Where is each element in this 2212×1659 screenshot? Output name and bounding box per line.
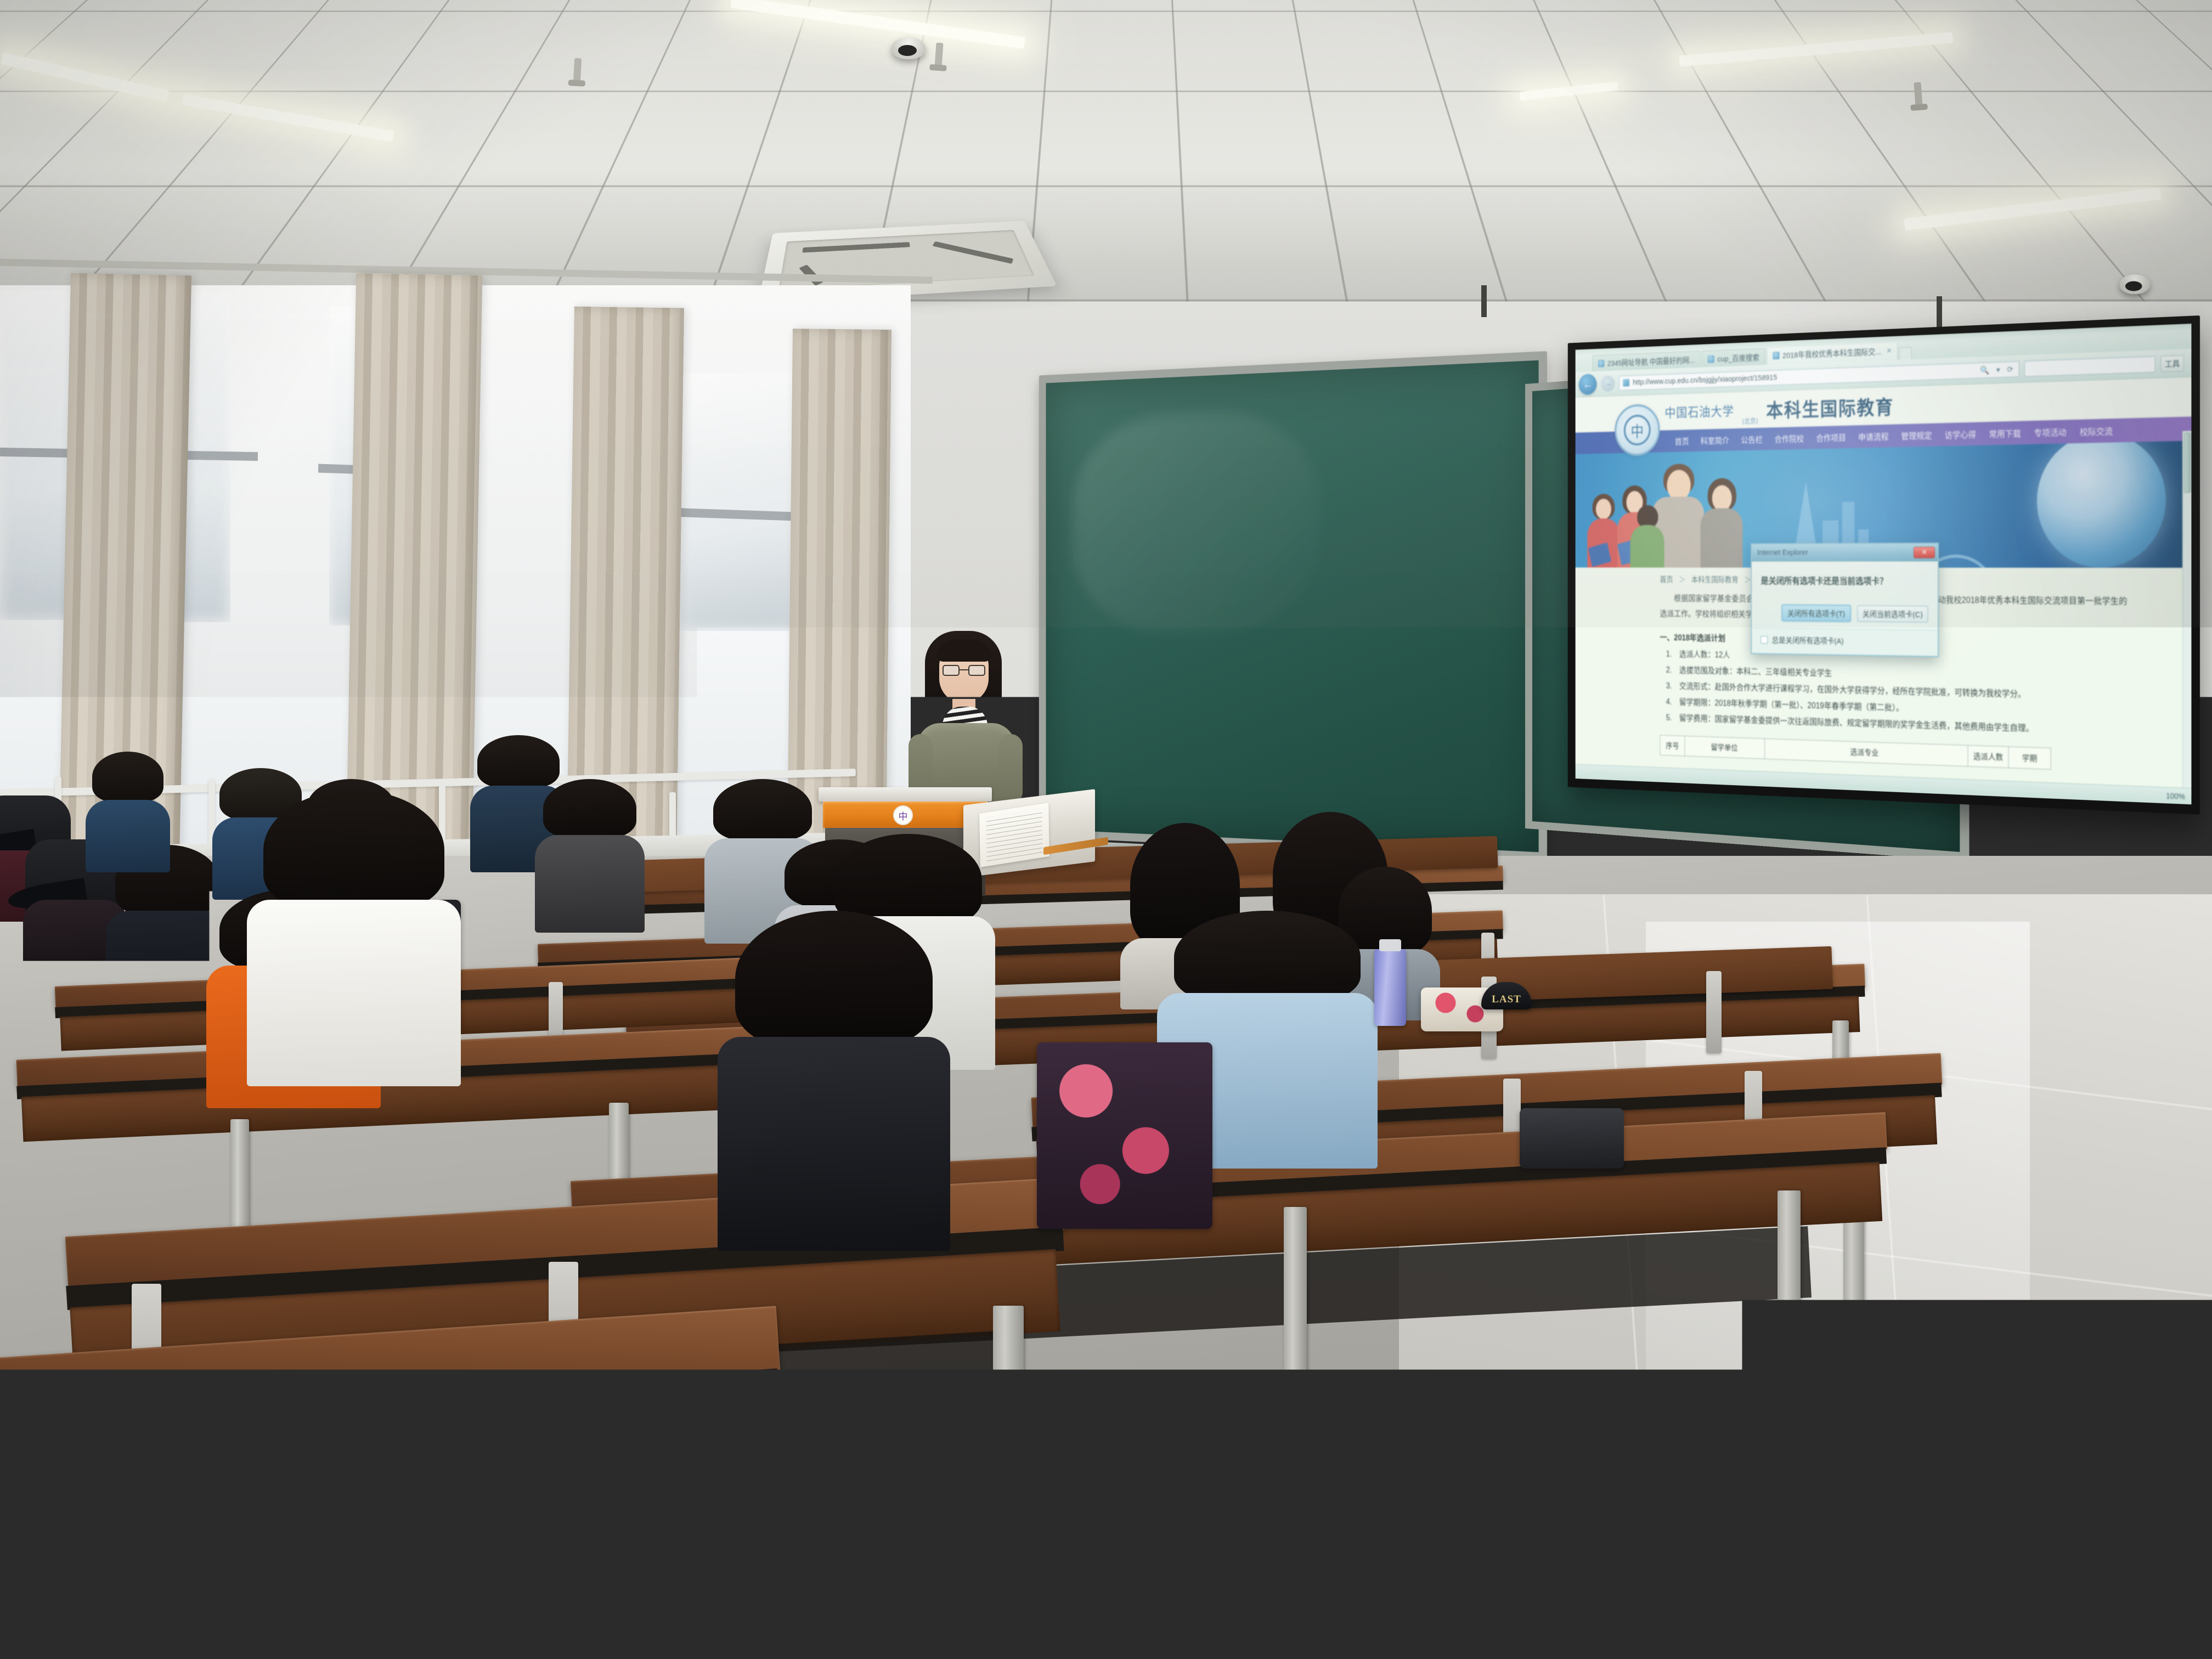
projection-surface: 2345网址导航 中国最好的网... cup_百度搜索 2018年我校优秀本科生… [1576, 324, 2192, 805]
water-bottle[interactable] [1374, 949, 1406, 1026]
table-header-row: 序号 留学单位 选派专业 选派人数 学期 [1660, 735, 2051, 769]
globe-icon [2037, 441, 2166, 568]
logo-glyph: 中 [1624, 414, 1651, 445]
breadcrumb-item-home[interactable]: 首页 [1660, 575, 1673, 584]
list-item-text: 留学期限：2018年秋季学期（第一批）、2019年春季学期（第二批）。 [1679, 698, 1904, 713]
site-nav-item-notices[interactable]: 公告栏 [1741, 433, 1763, 445]
student-hair [735, 911, 933, 1048]
site-name-suffix: (北京) [1742, 415, 1758, 428]
forward-glyph: → [1604, 378, 1612, 388]
site-nav-item-downloads[interactable]: 常用下载 [1989, 426, 2021, 440]
url-text: http://www.cup.edu.cn/bsjgjjy/xiaoprojec… [1633, 366, 1974, 387]
student-torso [86, 800, 170, 872]
list-item-number: 1. [1666, 647, 1672, 663]
printed-script-paper [979, 803, 1049, 867]
close-icon[interactable]: ✕ [1887, 347, 1892, 356]
selection-plan-table: 序号 留学单位 选派专业 选派人数 学期 [1660, 735, 2051, 770]
dialog-titlebar: Internet Explorer ✕ [1752, 544, 1938, 562]
seat-frame-post [702, 1404, 738, 1635]
hero-person [1587, 494, 1620, 568]
camera-lens-icon [2125, 281, 2142, 291]
close-icon[interactable]: ✕ [1914, 546, 1935, 558]
table-header-cell: 留学单位 [1685, 736, 1765, 759]
glasses-lens [943, 665, 960, 676]
cap-logo-text: LAST [1492, 994, 1521, 1009]
list-item-text: 选拔范围及对象：本科二、三年级相关专业学生 [1679, 667, 1832, 678]
student-torso [535, 835, 645, 933]
classroom-scene: 2345网址导航 中国最好的网... cup_百度搜索 2018年我校优秀本科生… [0, 0, 2212, 1659]
backpack-on-desk[interactable] [1520, 1108, 1624, 1169]
page-favicon-icon [1623, 379, 1629, 387]
security-camera-icon [891, 37, 926, 59]
presenter-bangs [937, 640, 991, 662]
list-item-number: 3. [1666, 679, 1672, 695]
site-nav-item-exchange[interactable]: 校际交流 [2080, 424, 2113, 438]
breadcrumb-item-section[interactable]: 本科生国际教育 [1691, 575, 1739, 584]
person-body [1701, 508, 1743, 568]
site-nav-item-projects[interactable]: 合作项目 [1816, 431, 1846, 444]
back-arrow-icon[interactable]: ← [1579, 374, 1597, 395]
tab-favicon-icon [1598, 359, 1605, 367]
dialog-footer: 总是关闭所有选项卡(A) [1752, 628, 1938, 656]
hero-person [1630, 505, 1664, 567]
thermos-bottle[interactable] [664, 902, 703, 996]
student-seated [543, 779, 636, 933]
forward-arrow-icon[interactable]: → [1601, 375, 1615, 392]
table-header-cell: 选派专业 [1764, 739, 1968, 767]
ceiling-shadow [0, 167, 2212, 302]
blackboard-surface [1039, 351, 1547, 861]
web-page-viewport: 中 中国石油大学 (北京) 本科生国际教育 首页 科室简介 公告栏 合作院校 合… [1576, 377, 2192, 805]
university-emblem: 中 [893, 805, 913, 825]
table-header-cell: 选派人数 [1968, 746, 2008, 768]
desk-leg [1575, 1503, 1607, 1659]
tab-label: cup_百度搜索 [1718, 352, 1759, 364]
window-pane [680, 373, 795, 631]
close-all-tabs-button[interactable]: 关闭所有选项卡(T) [1782, 605, 1850, 622]
student-hair [1174, 911, 1361, 1004]
blackboard-main [1039, 351, 1547, 861]
security-camera-icon [2119, 274, 2150, 294]
student-seated [92, 752, 163, 872]
chevron-right-icon: ＞ [1675, 575, 1690, 584]
projection-screen: 2345网址导航 中国最好的网... cup_百度搜索 2018年我校优秀本科生… [1568, 315, 2200, 815]
window-curtain[interactable] [346, 273, 482, 857]
blackboard-glare [1073, 408, 1320, 635]
site-nav-item-rules[interactable]: 管理规定 [1901, 428, 1932, 442]
paper-text-lines [986, 809, 1042, 861]
ie-close-tabs-dialog: Internet Explorer ✕ 是关闭所有选项卡还是当前选项卡？ 关闭所… [1751, 543, 1939, 657]
always-close-all-label: 总是关闭所有选项卡(A) [1772, 635, 1844, 646]
site-nav-item-events[interactable]: 专项活动 [2034, 425, 2066, 439]
desk-leg [1778, 1190, 1801, 1388]
tab-favicon-icon [1708, 355, 1714, 363]
search-icon[interactable]: 🔍 [1979, 365, 1991, 375]
refresh-icon[interactable]: ⟳ [2006, 364, 2015, 374]
bottle-cap [670, 890, 697, 905]
dialog-button-row: 关闭所有选项卡(T) 关闭当前选项卡(C) [1761, 605, 1928, 623]
bottle-cap [651, 872, 675, 886]
glasses-bridge [960, 669, 968, 670]
screen-mount [1937, 296, 1942, 328]
article-list: 1. 选派人数：12人 2. 选拔范围及对象：本科二、三年级相关专业学生 3. … [1660, 647, 2128, 741]
glasses-icon [943, 665, 985, 676]
floral-print-bag[interactable] [1037, 1042, 1212, 1229]
site-nav-item-partners[interactable]: 合作院校 [1775, 432, 1804, 445]
list-item-number: 2. [1666, 663, 1672, 679]
seat-frame-post [99, 1426, 135, 1657]
table-header-cell: 学期 [2008, 747, 2051, 769]
person-head [1596, 499, 1611, 520]
hero-person [1701, 478, 1743, 568]
close-current-tab-label: 关闭当前选项卡(C) [1863, 608, 1923, 620]
person-body [1630, 525, 1664, 568]
bottle-cap [1379, 939, 1401, 951]
site-nav-item-apply[interactable]: 申请流程 [1858, 430, 1888, 443]
dialog-body: 是关闭所有选项卡还是当前选项卡？ 关闭所有选项卡(T) 关闭当前选项卡(C) [1752, 561, 1938, 630]
tools-label: 工具 [2165, 358, 2180, 369]
dialog-message: 是关闭所有选项卡还是当前选项卡？ [1761, 574, 1928, 587]
student-seated-white-shirt [263, 790, 444, 1086]
student-torso [247, 900, 460, 1086]
site-nav-item-about[interactable]: 科室简介 [1701, 434, 1729, 447]
scrollbar-thumb[interactable] [2184, 432, 2191, 493]
seat-frame-post [1706, 971, 1722, 1053]
chevron-down-icon[interactable]: ▾ [1995, 365, 2001, 375]
podium-top-surface [819, 787, 992, 802]
list-item-text: 选派人数：12人 [1679, 651, 1730, 660]
student-hair [713, 779, 812, 840]
tab-label: 2018年我校优秀本科生国际交... [1782, 346, 1881, 360]
person-head [1712, 485, 1732, 511]
site-name: 中国石油大学 [1664, 402, 1734, 422]
tab-label: 2345网址导航 中国最好的网... [1607, 354, 1695, 368]
site-nav-item-stories[interactable]: 访学心得 [1945, 427, 1976, 441]
site-title: 本科生国际教育 [1766, 392, 1894, 423]
list-item-number: 5. [1666, 710, 1672, 726]
presenter-arm [998, 734, 1023, 804]
camera-lens-icon [898, 45, 917, 56]
zoom-level[interactable]: 100% [2166, 791, 2185, 800]
new-tab-button[interactable] [1899, 347, 1912, 360]
close-current-tab-button[interactable]: 关闭当前选项卡(C) [1857, 605, 1928, 622]
student-hair [543, 779, 636, 838]
desk-leg [1284, 1207, 1307, 1404]
page-scrollbar[interactable] [2182, 431, 2191, 804]
table-header-cell: 序号 [1660, 735, 1685, 756]
screen-mount [1481, 285, 1487, 317]
list-item-number: 4. [1666, 695, 1672, 710]
back-glyph: ← [1583, 377, 1593, 391]
tools-button[interactable]: 工具 [2160, 355, 2183, 372]
dialog-title: Internet Explorer [1757, 548, 1914, 557]
site-nav-item-home[interactable]: 首页 [1675, 435, 1689, 447]
glasses-lens [968, 665, 985, 676]
tab-favicon-icon [1773, 352, 1780, 359]
student-hair [263, 790, 444, 911]
presenter-person [911, 631, 1020, 806]
student-hair [92, 752, 163, 802]
close-all-tabs-label: 关闭所有选项卡(T) [1787, 607, 1845, 619]
browser-tab-2[interactable]: cup_百度搜索 [1702, 348, 1765, 368]
search-input[interactable] [2024, 356, 2155, 377]
sprinkler-head-icon [573, 58, 582, 84]
student-seated-dark-shirt [735, 911, 933, 1251]
always-close-all-checkbox[interactable] [1761, 636, 1768, 644]
browser-window: 2345网址导航 中国最好的网... cup_百度搜索 2018年我校优秀本科生… [1576, 324, 2192, 805]
student-torso [718, 1037, 951, 1251]
